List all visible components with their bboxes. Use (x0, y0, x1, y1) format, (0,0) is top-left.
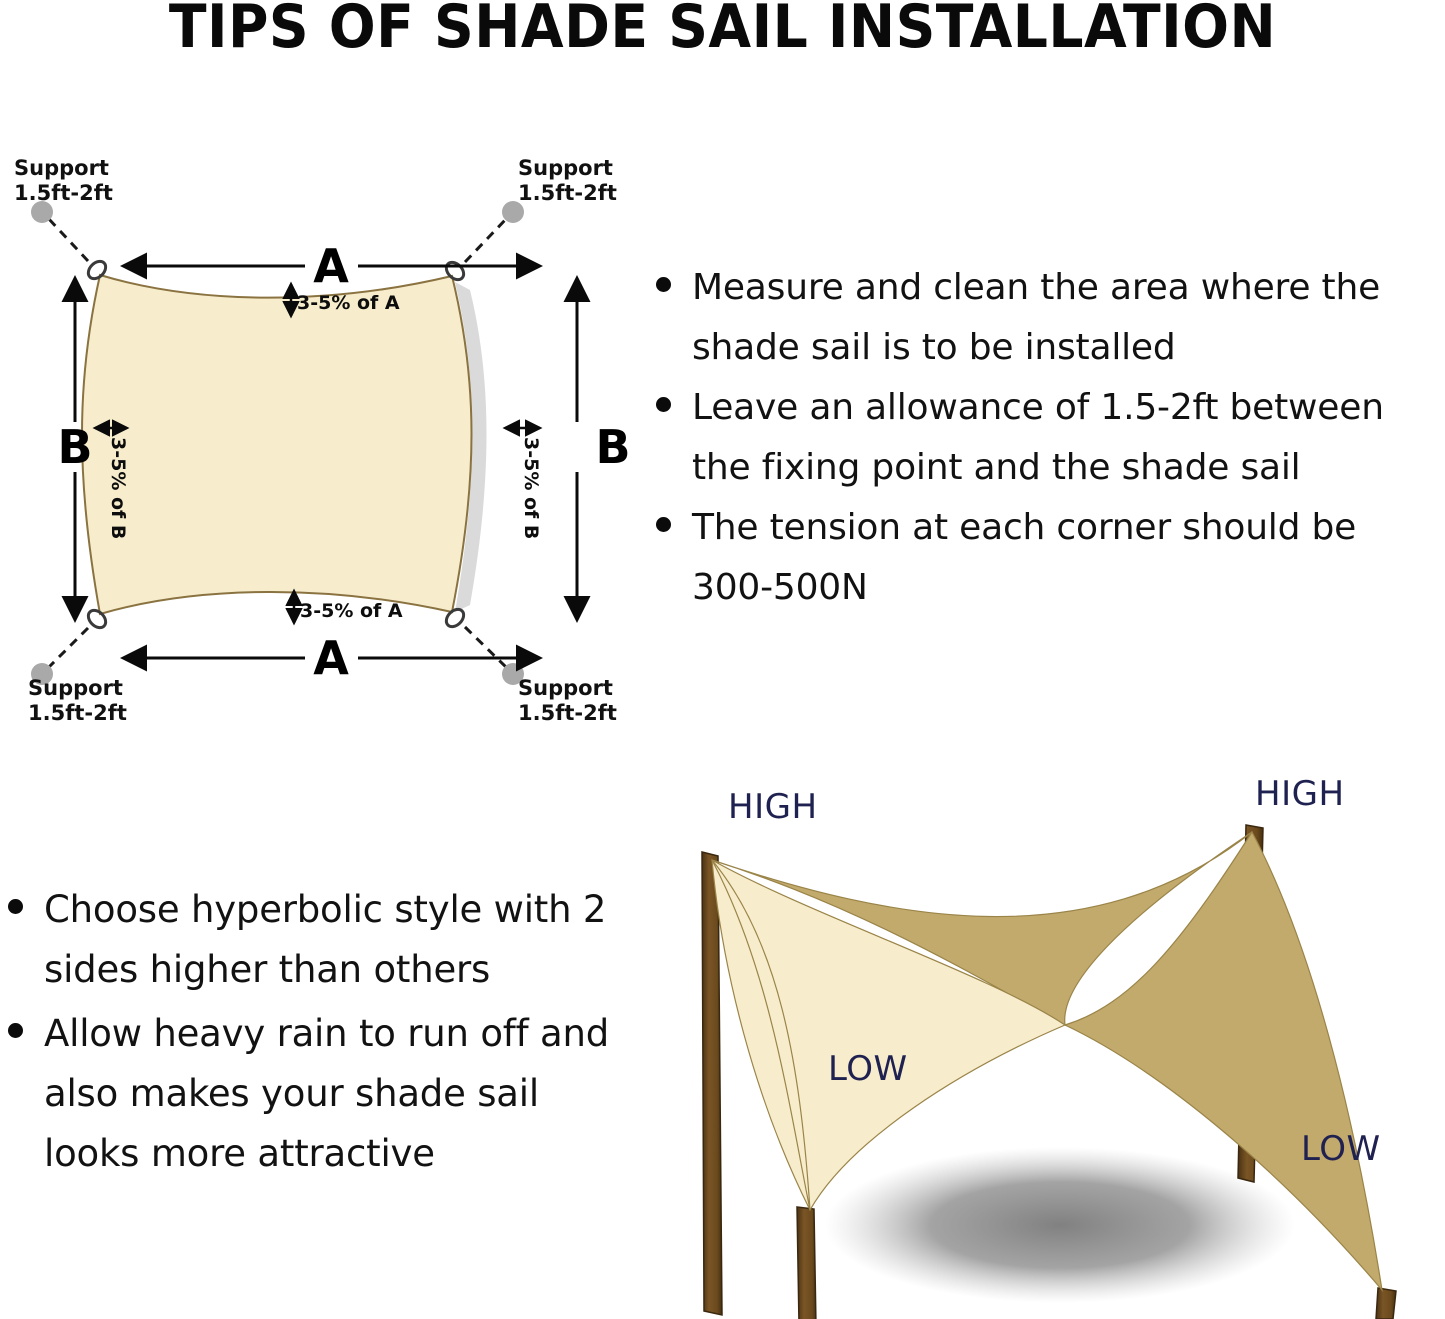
hyperbolic-tips-list-panel: Choose hyperbolic style with 2 sides hig… (0, 880, 620, 1210)
support-label-line1: Support (14, 156, 109, 180)
ground-shadow (825, 1147, 1295, 1303)
support-label-line1: Support (518, 676, 613, 700)
list-item: The tension at each corner should be 300… (648, 498, 1445, 618)
label-high-right: HIGH (1255, 774, 1345, 814)
label-low-right: LOW (1301, 1129, 1381, 1169)
tip-text: Choose hyperbolic style with 2 sides hig… (44, 880, 620, 1000)
list-item: Leave an allowance of 1.5-2ft between th… (648, 378, 1445, 498)
tip-text: The tension at each corner should be 300… (692, 498, 1445, 618)
tip-text: Measure and clean the area where the sha… (692, 258, 1445, 378)
list-item: Choose hyperbolic style with 2 sides hig… (0, 880, 620, 1000)
support-label-bottom-right: Support 1.5ft-2ft (518, 676, 617, 725)
support-label-top-right: Support 1.5ft-2ft (518, 156, 617, 205)
support-label-line1: Support (28, 676, 123, 700)
dimension-label-b-right: B (595, 420, 630, 474)
support-label-top-left: Support 1.5ft-2ft (14, 156, 113, 205)
post-low-front (797, 1207, 817, 1319)
support-label-line1: Support (518, 156, 613, 180)
rect-sail-svg: Support 1.5ft-2ft Support 1.5ft-2ft Supp… (0, 150, 660, 730)
tip-text: Leave an allowance of 1.5-2ft between th… (692, 378, 1445, 498)
label-high-left: HIGH (728, 787, 818, 827)
sag-label-top: 3-5% of A (297, 292, 400, 314)
support-label-line2: 1.5ft-2ft (518, 701, 617, 725)
support-label-line2: 1.5ft-2ft (518, 181, 617, 205)
list-item: Allow heavy rain to run off and also mak… (0, 1004, 620, 1184)
list-item: Measure and clean the area where the sha… (648, 258, 1445, 378)
hyperbolic-sail-svg: HIGH HIGH LOW LOW (660, 770, 1445, 1319)
post-low-right (1376, 1288, 1396, 1319)
hyperbolic-sail-illustration-panel: HIGH HIGH LOW LOW (660, 770, 1445, 1319)
label-low-front: LOW (828, 1049, 908, 1089)
dimension-label-a-top: A (313, 239, 349, 293)
dimension-label-b-left: B (57, 420, 92, 474)
page-title: TIPS OF SHADE SAIL INSTALLATION (58, 0, 1387, 58)
installation-tips-list: Measure and clean the area where the sha… (648, 258, 1445, 618)
rectangular-sail-diagram-panel: Support 1.5ft-2ft Support 1.5ft-2ft Supp… (0, 150, 660, 730)
support-label-line2: 1.5ft-2ft (14, 181, 113, 205)
hyperbolic-tips-list: Choose hyperbolic style with 2 sides hig… (0, 880, 620, 1184)
installation-tips-list-panel: Measure and clean the area where the sha… (648, 258, 1445, 678)
sail-fabric (82, 275, 472, 614)
post-high-left (702, 852, 722, 1315)
sag-label-bottom: 3-5% of A (300, 600, 403, 622)
sag-label-left: 3-5% of B (107, 437, 129, 539)
support-label-line2: 1.5ft-2ft (28, 701, 127, 725)
sag-label-right: 3-5% of B (520, 437, 542, 539)
support-label-bottom-left: Support 1.5ft-2ft (28, 676, 127, 725)
dimension-label-a-bottom: A (313, 631, 349, 685)
tip-text: Allow heavy rain to run off and also mak… (44, 1004, 620, 1184)
